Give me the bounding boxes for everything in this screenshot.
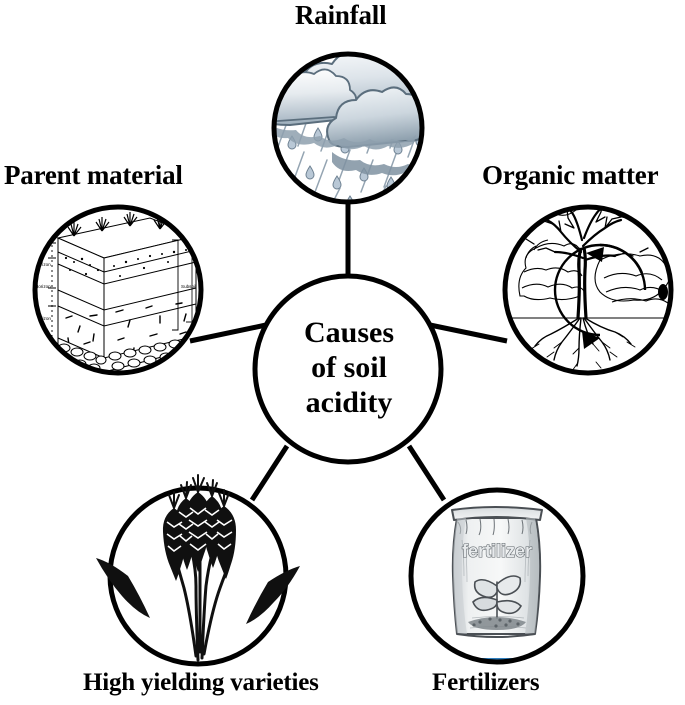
rain-cloud-icon <box>260 50 432 209</box>
svg-text:O: O <box>32 236 36 241</box>
node-rainfall <box>260 50 432 209</box>
connector-hub-high-yielding-varieties <box>252 446 287 500</box>
connector-hub-organic-matter <box>430 325 507 341</box>
node-label-high-yielding-varieties: High yielding varieties <box>83 670 319 695</box>
node-parent-material: O Horizon A₁ Horizon B₁ Horizon B₂ Horiz… <box>29 207 201 373</box>
node-high-yielding-varieties <box>96 475 300 664</box>
svg-text:B₁ Horizon: B₁ Horizon <box>29 284 51 289</box>
node-label-organic-matter: Organic matter <box>482 162 658 189</box>
svg-text:C Horizon: C Horizon <box>30 348 51 353</box>
connector-hub-fertilizers <box>409 446 444 500</box>
node-label-rainfall: Rainfall <box>295 2 386 29</box>
node-label-parent-material: Parent material <box>4 162 183 189</box>
node-organic-matter <box>505 202 671 373</box>
node-fertilizers: fertilizer <box>411 490 583 663</box>
svg-text:Subsoil: Subsoil <box>181 284 196 289</box>
node-label-fertilizers: Fertilizers <box>432 670 539 695</box>
fertilizer-bag-text: fertilizer <box>462 541 532 561</box>
hub-circle <box>255 276 441 462</box>
connector-hub-parent-material <box>190 325 266 341</box>
diagram-canvas: O Horizon A₁ Horizon B₁ Horizon B₂ Horiz… <box>0 0 685 705</box>
causes-of-soil-acidity-diagram: O Horizon A₁ Horizon B₁ Horizon B₂ Horiz… <box>0 0 685 705</box>
svg-text:Horizon: Horizon <box>30 243 46 248</box>
